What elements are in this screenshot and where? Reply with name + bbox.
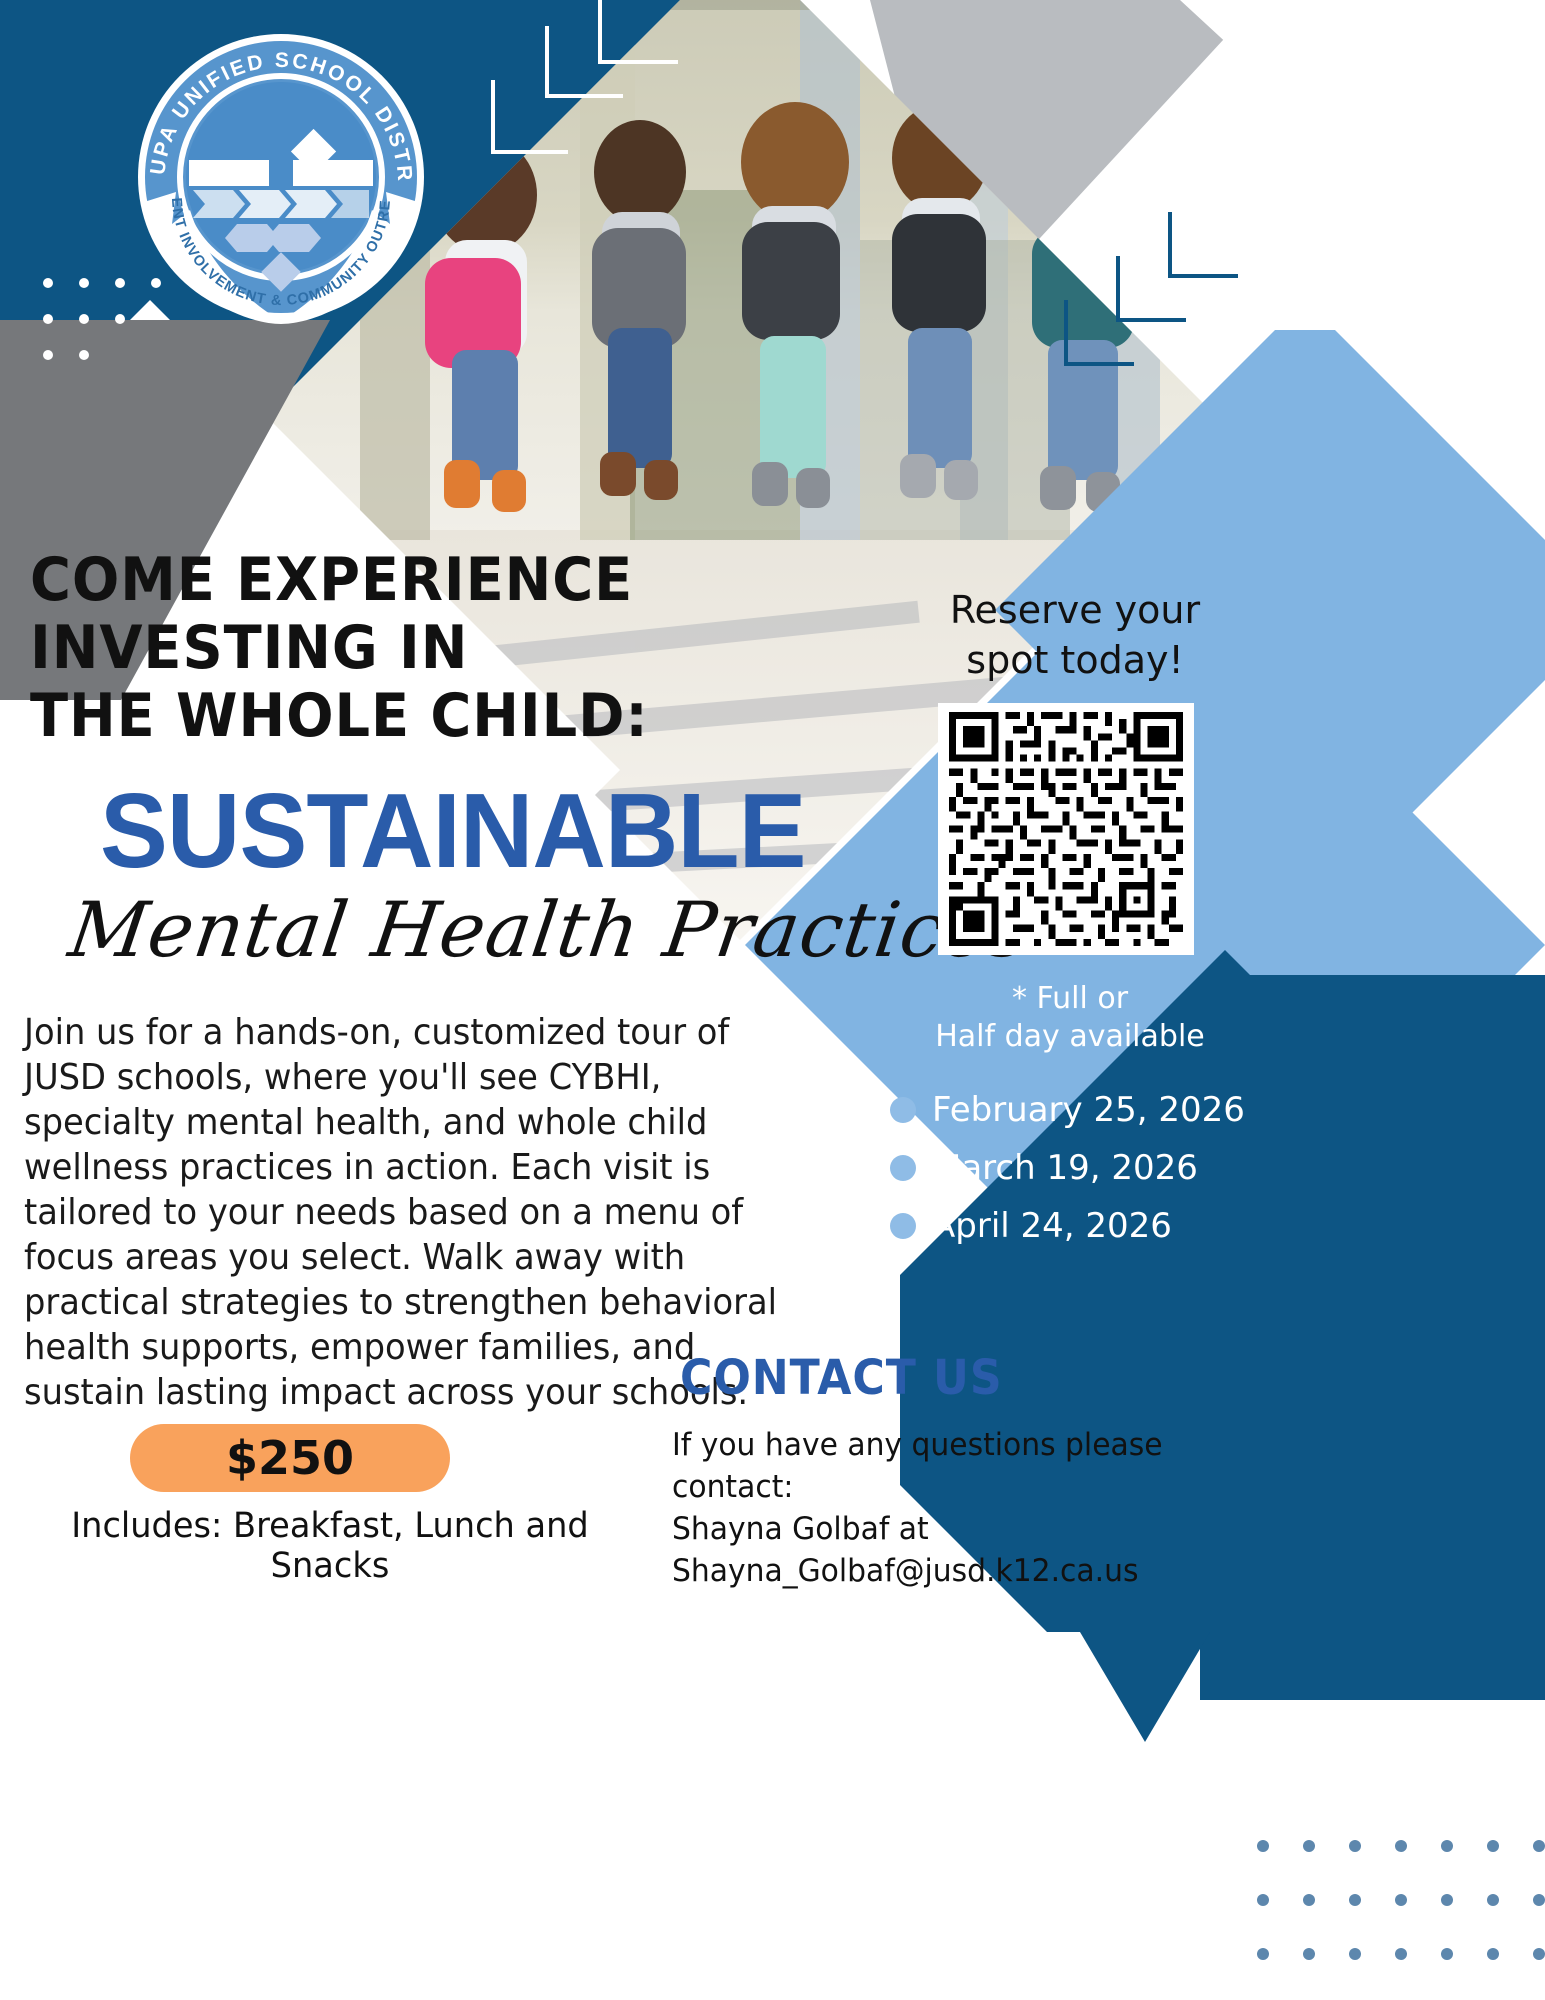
contact-line-1: If you have any questions please contact… — [672, 1424, 1190, 1508]
date-label: April 24, 2026 — [932, 1206, 1172, 1246]
bracket-group-top-left — [490, 0, 870, 190]
corner-bracket-icon — [493, 80, 568, 152]
price-badge: $250 — [130, 1424, 450, 1492]
qr-code[interactable] — [938, 703, 1194, 955]
qr-code-icon[interactable] — [947, 712, 1185, 946]
headline-emphasis: SUSTAINABLE — [100, 778, 806, 884]
corner-bracket-icon — [1066, 300, 1134, 364]
corner-bracket-icon — [1118, 256, 1186, 320]
headline-line-2: INVESTING IN — [30, 614, 718, 682]
flyer-page: JURUPA UNIFIED SCHOOL DISTRICT PARENT IN… — [0, 0, 1545, 2000]
headline-block: COME EXPERIENCE INVESTING IN THE WHOLE C… — [30, 546, 718, 750]
white-block-contact — [560, 1632, 1200, 2000]
bullet-icon — [890, 1213, 916, 1239]
bracket-group-top-right — [1020, 200, 1240, 390]
dot-grid-top-left — [40, 275, 170, 365]
contact-details: If you have any questions please contact… — [672, 1424, 1190, 1592]
headline-script: Mental Health Practices — [64, 885, 1037, 975]
contact-title: CONTACT US — [680, 1350, 1003, 1406]
availability-note: * Full or Half day available — [925, 980, 1215, 1056]
navy-block-right — [1225, 975, 1545, 1805]
headline-line-1: COME EXPERIENCE — [30, 546, 718, 614]
bullet-icon — [890, 1155, 916, 1181]
reserve-line-2: spot today! — [940, 635, 1210, 685]
corner-bracket-icon — [600, 0, 678, 62]
list-item: March 19, 2026 — [890, 1148, 1245, 1188]
corner-bracket-icon — [1170, 212, 1238, 276]
date-label: March 19, 2026 — [932, 1148, 1198, 1188]
list-item: April 24, 2026 — [890, 1206, 1245, 1246]
body-paragraph: Join us for a hands-on, customized tour … — [24, 1010, 794, 1415]
dates-list: February 25, 2026 March 19, 2026 April 2… — [890, 1090, 1245, 1264]
reserve-line-1: Reserve your — [940, 585, 1210, 635]
contact-line-2: Shayna Golbaf at — [672, 1508, 1190, 1550]
availability-line-1: * Full or — [925, 980, 1215, 1018]
date-label: February 25, 2026 — [932, 1090, 1245, 1130]
district-seal-icon: JURUPA UNIFIED SCHOOL DISTRICT PARENT IN… — [128, 24, 434, 330]
headline-line-3: THE WHOLE CHILD: — [30, 682, 718, 750]
price-amount: $250 — [226, 1431, 354, 1485]
district-seal-logo: JURUPA UNIFIED SCHOOL DISTRICT PARENT IN… — [128, 24, 434, 330]
dot-grid-bottom-right — [1255, 1838, 1545, 1988]
contact-email[interactable]: Shayna_Golbaf@jusd.k12.ca.us — [672, 1550, 1190, 1592]
list-item: February 25, 2026 — [890, 1090, 1245, 1130]
price-includes: Includes: Breakfast, Lunch and Snacks — [52, 1506, 609, 1586]
bullet-icon — [890, 1097, 916, 1123]
availability-line-2: Half day available — [925, 1018, 1215, 1056]
reserve-heading: Reserve your spot today! — [940, 585, 1210, 685]
